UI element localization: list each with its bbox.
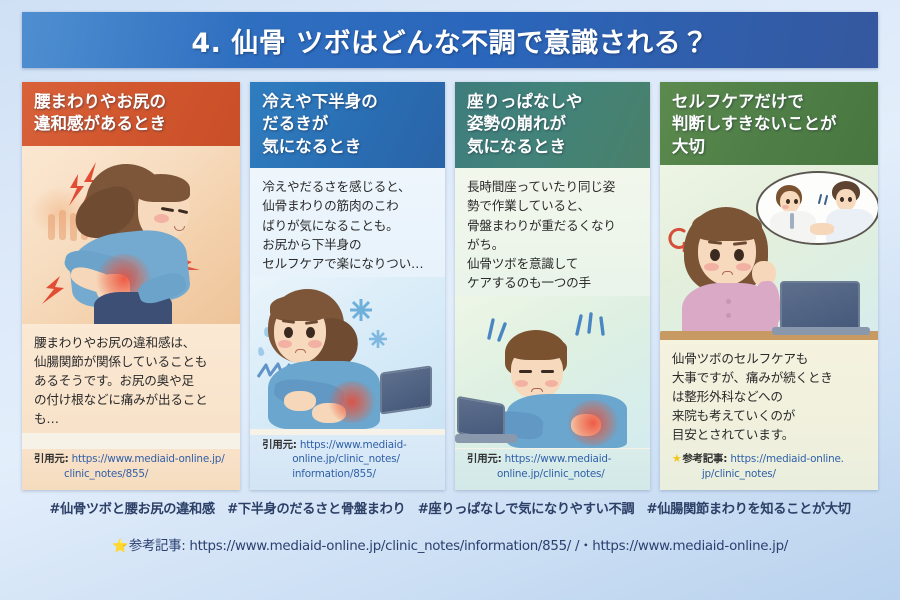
hair-fringe xyxy=(270,295,328,321)
panel-lower-back-discomfort: 腰まわりやお尻の 違和感があるとき xyxy=(22,82,240,490)
stress-lines-icon xyxy=(573,310,607,344)
panel-3-body: 長時間座っていたり同じ姿 勢で作業していると、 骨盤まわりが重だるくなり がち。… xyxy=(455,168,650,296)
panel-2-heading: 冷えや下半身の だるきが 気になるとき xyxy=(262,91,434,158)
panel-4-heading: セルフケアだけで 判断しすきないことが 大切 xyxy=(672,91,867,158)
snowflake-icon xyxy=(348,297,374,327)
panel-grid: 腰まわりやお尻の 違和感があるとき xyxy=(22,82,878,490)
panel-prolonged-sitting: 座りっぱなしや 姿勢の崩れが 気になるとき 長時間座っていたり同じ姿 勢で作業し… xyxy=(455,82,650,490)
hashtag-item[interactable]: #下半身のだるさと骨盤まわり xyxy=(227,502,405,517)
hair-fringe xyxy=(507,336,567,360)
mouth xyxy=(531,388,543,392)
pain-bolt-icon xyxy=(38,274,72,312)
citation-label: 参考記事: xyxy=(682,453,727,465)
infographic-page: 4. 仙骨 ツボはどんな不調で意識される？ 腰まわりやお尻の 違和感があるとき xyxy=(0,0,900,600)
citation-url-line-1[interactable]: https://www.mediaid- xyxy=(505,453,612,465)
panel-cold-lower-body: 冷えや下半身の だるきが 気になるとき 冷えやだるさを感じると、 仙骨まわりの筋… xyxy=(250,82,445,490)
illustration-man-slumped-at-desk xyxy=(455,296,650,448)
thought-bubble xyxy=(756,171,878,245)
panel-1-heading: 腰まわりやお尻の 違和感があるとき xyxy=(34,91,229,136)
star-icon: ★ xyxy=(672,452,682,465)
footer-label: 参考記事: xyxy=(129,539,186,554)
patient-face xyxy=(836,189,856,211)
citation-label: 引用元: xyxy=(34,453,69,465)
hashtag-row: #仙骨ツボと腰お尻の違和感 #下半身のだるさと骨盤まわり #座りっぱなしで気にな… xyxy=(0,498,900,517)
citation-url-line-1[interactable]: https://www.mediaid- xyxy=(300,439,407,451)
panel-consult-professional: セルフケアだけで 判断しすきないことが 大切 xyxy=(660,82,878,490)
pain-glow xyxy=(328,381,376,423)
mouth xyxy=(722,271,733,275)
stethoscope xyxy=(790,213,794,229)
panel-1-header: 腰まわりやお尻の 違和感があるとき xyxy=(22,82,240,146)
sweat-drop xyxy=(257,346,265,356)
panel-2-citation: 引用元: https://www.mediaid- online.jp/clin… xyxy=(250,435,445,490)
citation-url-line-1[interactable]: https://www.mediaid-online.jp/ xyxy=(72,453,225,465)
laptop-base xyxy=(455,434,517,443)
illustration-woman-cold-chill xyxy=(250,277,445,429)
panel-3-citation: 引用元: https://www.mediaid- online.jp/clin… xyxy=(455,449,650,490)
panel-3-header: 座りっぱなしや 姿勢の崩れが 気になるとき xyxy=(455,82,650,168)
eye xyxy=(519,370,532,373)
panel-4-header: セルフケアだけで 判断しすきないことが 大切 xyxy=(660,82,878,165)
laptop-screen xyxy=(380,365,432,414)
panel-4-citation: ★参考記事: https://mediaid-online. jp/clinic… xyxy=(660,448,878,490)
footer-source: ⭐参考記事: https://www.mediaid-online.jp/cli… xyxy=(0,534,900,554)
illustration-woman-lower-back-pain xyxy=(22,146,240,324)
illustration-woman-thinking-of-doctor xyxy=(660,165,878,339)
panel-4-body: 仙骨ツボのセルフケアも 大事ですが、痛みが続くとき は整形外科などへの 来院も考… xyxy=(660,340,878,449)
citation-url-line-2[interactable]: online.jp/clinic_notes/ xyxy=(467,467,640,481)
hashtag-item[interactable]: #仙腸関節まわりを知ることが大切 xyxy=(647,502,851,517)
hair-fringe xyxy=(134,174,190,202)
hand xyxy=(284,391,316,411)
pain-glow xyxy=(567,400,619,446)
panel-3-heading: 座りっぱなしや 姿勢の崩れが 気になるとき xyxy=(467,91,639,158)
panel-2-body: 冷えやだるさを感じると、 仙骨まわりの筋肉のこわ ばりが気になることも。 お尻か… xyxy=(250,168,445,277)
citation-url-line-3[interactable]: information/855/ xyxy=(262,467,435,481)
mouth xyxy=(295,349,306,353)
snowflake-icon xyxy=(368,329,388,353)
panel-1-body: 腰まわりやお尻の違和感は、 仙腸関節が関係していることも あるそうです。お尻の奥… xyxy=(22,324,240,433)
citation-url-line-2[interactable]: jp/clinic_notes/ xyxy=(672,467,868,481)
speech-spark-icon xyxy=(816,191,830,211)
header-banner: 4. 仙骨 ツボはどんな不調で意識される？ xyxy=(22,12,878,68)
panel-1-citation: 引用元: https://www.mediaid-online.jp/ clin… xyxy=(22,449,240,490)
star-icon: ⭐ xyxy=(112,539,128,554)
panel-2-header: 冷えや下半身の だるきが 気になるとき xyxy=(250,82,445,168)
citation-label: 引用元: xyxy=(262,439,297,451)
citation-url-line-2[interactable]: clinic_notes/855/ xyxy=(34,467,230,481)
citation-url-line-2[interactable]: online.jp/clinic_notes/ xyxy=(262,452,435,466)
hashtag-item[interactable]: #座りっぱなしで気になりやすい不調 xyxy=(418,502,635,517)
hands xyxy=(810,223,834,235)
citation-url-line-1[interactable]: https://mediaid-online. xyxy=(730,453,843,465)
arm-sleeve xyxy=(754,280,782,326)
footer-url[interactable]: https://www.mediaid-online.jp/clinic_not… xyxy=(189,539,788,554)
citation-label: 引用元: xyxy=(467,453,502,465)
laptop-screen xyxy=(780,281,860,333)
page-title: 4. 仙骨 ツボはどんな不調で意識される？ xyxy=(191,21,708,60)
cheek-blush xyxy=(154,214,169,223)
eye xyxy=(541,370,554,373)
hashtag-item[interactable]: #仙骨ツボと腰お尻の違和感 xyxy=(49,502,214,517)
hair-fringe xyxy=(692,211,762,241)
laptop-base xyxy=(772,327,870,335)
